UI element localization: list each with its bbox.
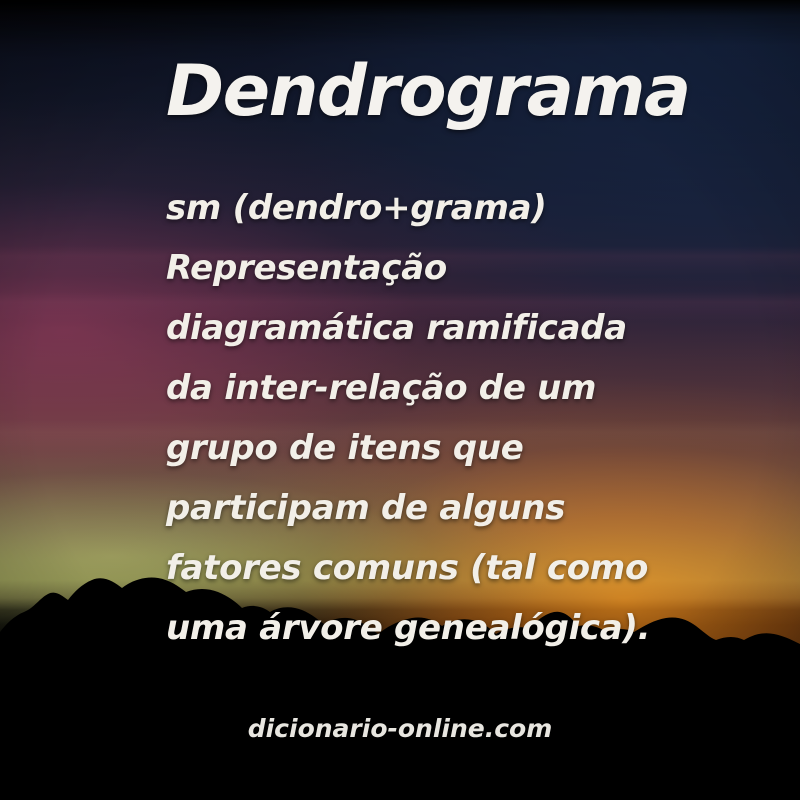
definition-line: sm (dendro+grama) [166, 178, 726, 238]
definition-line: diagramática ramificada [166, 298, 726, 358]
definition-card: Dendrograma sm (dendro+grama) Representa… [0, 0, 800, 800]
headword-title: Dendrograma [166, 52, 690, 130]
definition-line: da inter-relação de um [166, 358, 726, 418]
definition-line: fatores comuns (tal como [166, 538, 726, 598]
definition-line: grupo de itens que [166, 418, 726, 478]
definition-block: sm (dendro+grama) Representação diagramá… [166, 178, 726, 658]
text-layer: Dendrograma sm (dendro+grama) Representa… [0, 0, 800, 800]
definition-line: uma árvore genealógica). [166, 598, 726, 658]
site-credit-watermark: dicionario-online.com [0, 712, 800, 746]
definition-line: Representação [166, 238, 726, 298]
definition-line: participam de alguns [166, 478, 726, 538]
